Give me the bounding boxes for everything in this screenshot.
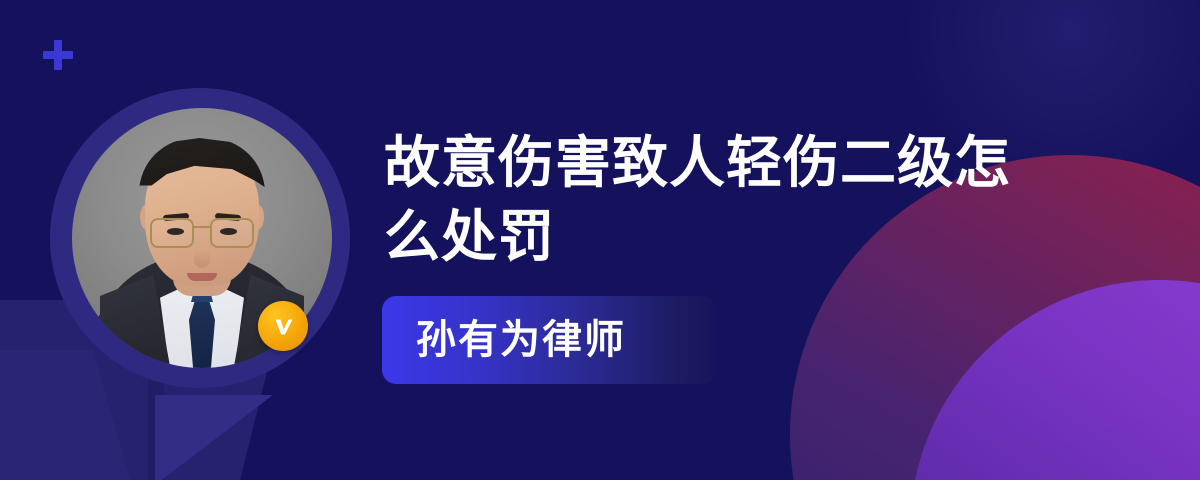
lawyer-name-badge[interactable]: 孙有为律师 [382, 296, 716, 384]
page-title: 故意伤害致人轻伤二级怎 么处罚 [384, 126, 1084, 274]
banner-card: 故意伤害致人轻伤二级怎 么处罚 孙有为律师 [0, 0, 1200, 480]
portrait-glasses [146, 218, 258, 246]
glasses-lens-right [210, 218, 254, 248]
bottom-right-inner-arc [910, 280, 1200, 480]
lawyer-name-label: 孙有为律师 [416, 320, 626, 360]
avatar [50, 88, 350, 388]
bottom-left-wedge-shape [155, 395, 273, 480]
portrait-mouth [187, 273, 217, 281]
glasses-bridge [194, 226, 210, 228]
portrait-nose [194, 250, 210, 268]
verified-check-icon [258, 301, 308, 351]
glasses-lens-left [150, 218, 194, 248]
plus-icon [43, 40, 73, 70]
